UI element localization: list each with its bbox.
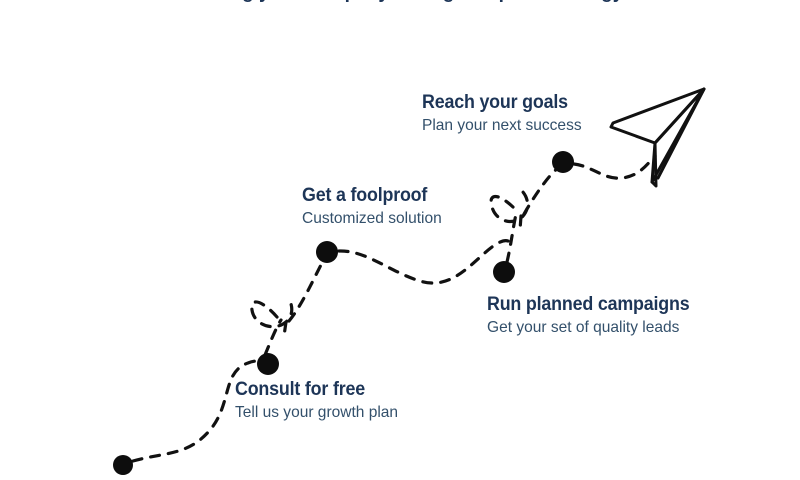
step-subtitle-goals: Plan your next success (422, 116, 582, 136)
step-subtitle-campaigns: Get your set of quality leads (487, 318, 696, 338)
paper-plane-icon (611, 89, 704, 186)
step-subtitle-foolproof: Customized solution (302, 209, 442, 229)
step-label-campaigns: Run planned campaigns Get your set of qu… (487, 294, 702, 338)
step-label-goals: Reach your goals Plan your next success (422, 92, 587, 136)
infographic-canvas: Growing your company through steps of st… (0, 0, 800, 480)
milestone-dot-final[interactable] (552, 151, 574, 173)
path-segment-3 (339, 241, 508, 283)
step-subtitle-consult: Tell us your growth plan (235, 403, 398, 423)
step-label-foolproof: Get a foolproof Customized solution (302, 185, 446, 229)
step-label-consult: Consult for free Tell us your growth pla… (235, 379, 403, 423)
step-title-foolproof: Get a foolproof (302, 185, 437, 207)
milestone-dot-campaigns[interactable] (316, 241, 338, 263)
milestone-dot-goals[interactable] (493, 261, 515, 283)
path-loop-lower-stem (284, 322, 286, 336)
path-segment-2b (289, 263, 322, 321)
step-title-goals: Reach your goals (422, 92, 577, 114)
step-title-campaigns: Run planned campaigns (487, 294, 689, 316)
milestone-dot-consult[interactable] (113, 455, 133, 475)
milestone-dot-foolproof[interactable] (257, 353, 279, 375)
path-segment-5 (574, 156, 655, 178)
step-title-consult: Consult for free (235, 379, 393, 401)
path-loop-upper-stem (520, 216, 521, 230)
path-segment-4b (524, 168, 558, 214)
